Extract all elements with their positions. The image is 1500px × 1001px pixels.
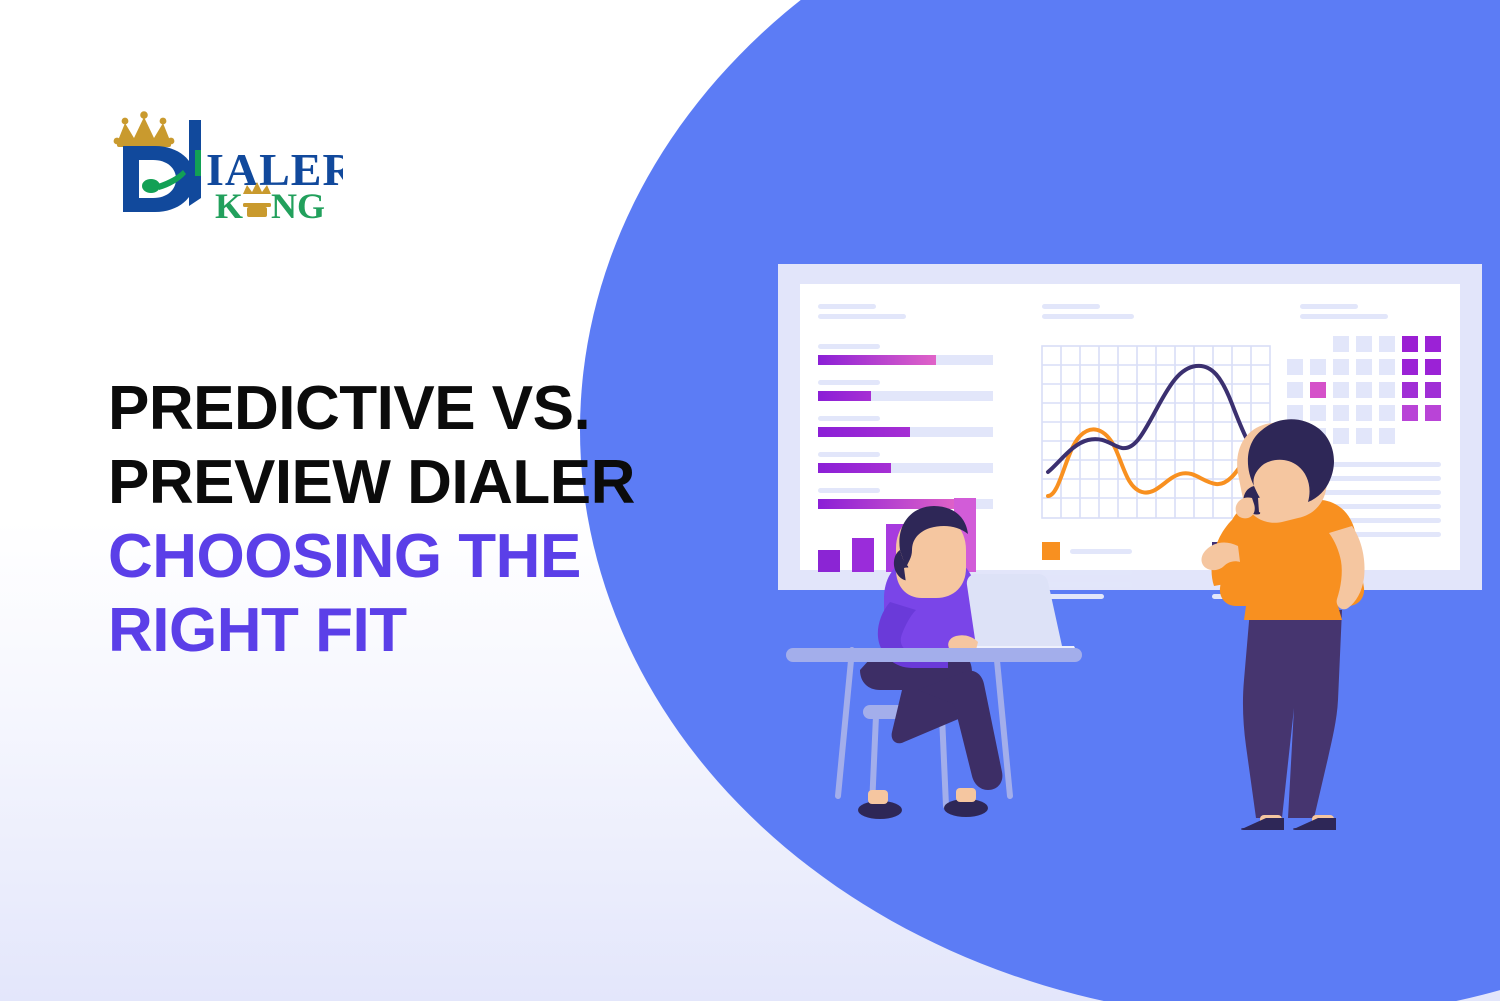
headline-line-2: PREVIEW DIALER <box>108 446 748 520</box>
headline-line-1: PREDICTIVE VS. <box>108 372 748 446</box>
headline-line-3: CHOOSING THE <box>108 520 748 594</box>
progress-fill <box>818 355 936 365</box>
legend-orange <box>1042 542 1132 599</box>
laptop <box>967 574 1062 646</box>
logo-word-secondary-ng: NG <box>271 186 325 225</box>
shoe <box>1293 818 1336 830</box>
logo-stem <box>189 120 201 206</box>
shoe <box>1241 818 1284 830</box>
progress-fill <box>818 463 891 473</box>
page-title: PREDICTIVE VS. PREVIEW DIALER CHOOSING T… <box>108 372 748 668</box>
headline-line-4: RIGHT FIT <box>108 594 748 668</box>
logo-word-secondary-k: K <box>215 186 243 225</box>
crown-icon <box>114 111 175 147</box>
dashboard-analytics-illustration <box>760 250 1500 830</box>
person-legs <box>1243 610 1342 818</box>
desk-top <box>786 648 1082 662</box>
dialer-king-logo[interactable]: IALER K NG <box>103 110 343 225</box>
logo-small-crown-icon <box>243 182 271 217</box>
progress-fill <box>818 427 910 437</box>
progress-fill <box>818 391 871 401</box>
logo-d-letter <box>123 146 195 212</box>
